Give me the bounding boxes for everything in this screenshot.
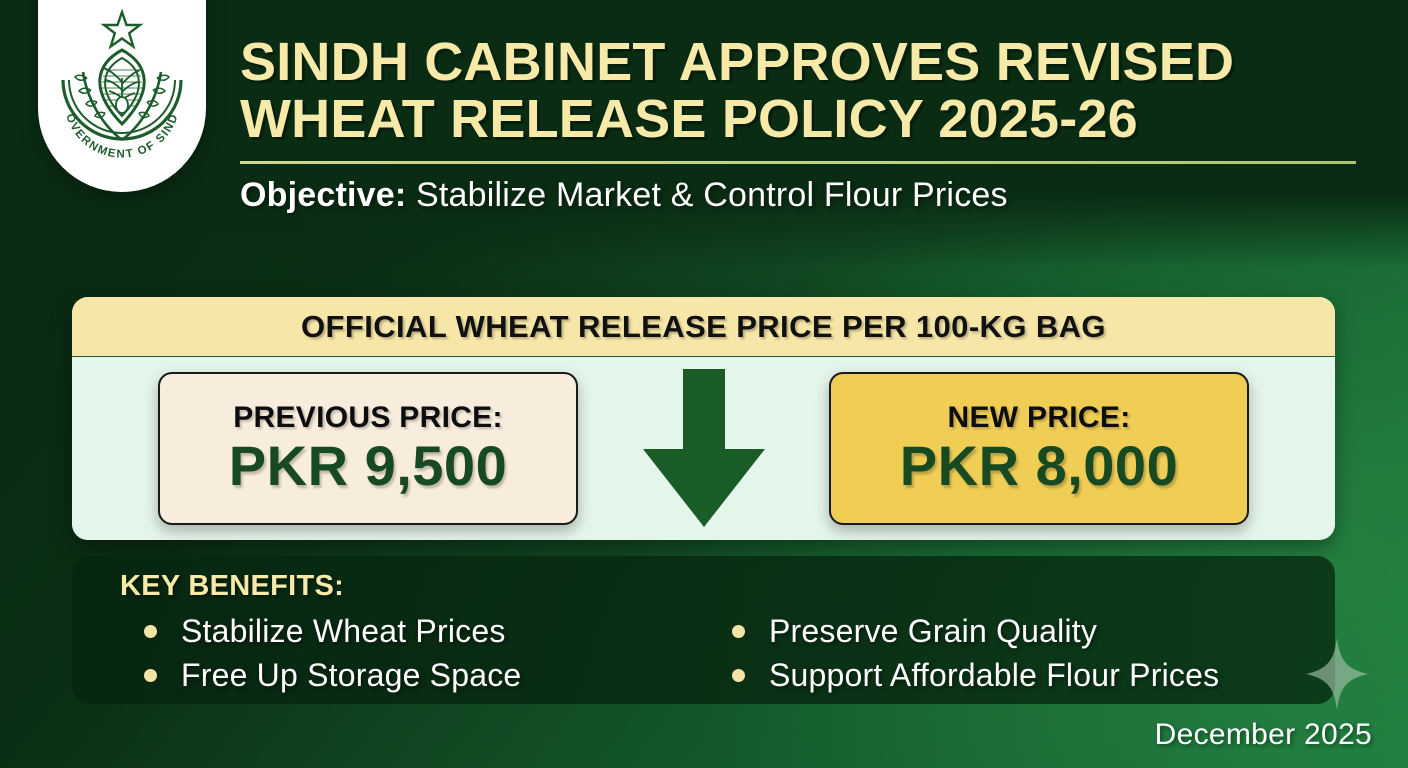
objective-label: Objective: xyxy=(240,176,406,214)
price-card-heading: OFFICIAL WHEAT RELEASE PRICE PER 100-KG … xyxy=(301,309,1106,345)
benefit-label: Free Up Storage Space xyxy=(181,657,521,694)
benefit-label: Preserve Grain Quality xyxy=(769,613,1097,650)
new-price-label: NEW PRICE: xyxy=(948,401,1131,435)
key-benefits-panel: KEY BENEFITS: Stabilize Wheat Prices Fre… xyxy=(72,556,1335,704)
infographic-poster: GOVERNMENT OF SINDH SINDH CABINET APPROV… xyxy=(0,0,1408,768)
government-logo-plate: GOVERNMENT OF SINDH xyxy=(38,0,206,192)
header-divider xyxy=(240,161,1356,164)
benefits-right-column: Preserve Grain Quality Support Affordabl… xyxy=(708,609,1328,697)
header-text-block: SINDH CABINET APPROVES REVISED WHEAT REL… xyxy=(240,34,1356,215)
benefit-item: Free Up Storage Space xyxy=(120,653,708,697)
key-benefits-title: KEY BENEFITS: xyxy=(120,570,1335,603)
benefits-columns: Stabilize Wheat Prices Free Up Storage S… xyxy=(120,609,1335,697)
new-price-box: NEW PRICE: PKR 8,000 xyxy=(829,372,1249,525)
bullet-dot-icon xyxy=(732,625,745,638)
previous-price-label: PREVIOUS PRICE: xyxy=(233,401,503,435)
bullet-dot-icon xyxy=(732,669,745,682)
benefit-label: Stabilize Wheat Prices xyxy=(181,613,506,650)
previous-price-box: PREVIOUS PRICE: PKR 9,500 xyxy=(158,372,578,525)
government-of-sindh-emblem-icon: GOVERNMENT OF SINDH xyxy=(47,6,197,184)
page-title: SINDH CABINET APPROVES REVISED WHEAT REL… xyxy=(240,34,1356,147)
objective-line: Objective: Stabilize Market & Control Fl… xyxy=(240,176,1356,215)
benefit-label: Support Affordable Flour Prices xyxy=(769,657,1219,694)
bullet-dot-icon xyxy=(144,669,157,682)
benefit-item: Stabilize Wheat Prices xyxy=(120,609,708,653)
benefits-left-column: Stabilize Wheat Prices Free Up Storage S… xyxy=(120,609,708,697)
objective-text: Stabilize Market & Control Flour Prices xyxy=(406,176,1007,214)
price-card-body: PREVIOUS PRICE: PKR 9,500 NEW PRICE: PKR… xyxy=(72,357,1335,540)
publication-date: December 2025 xyxy=(1155,718,1372,752)
sparkle-star-icon xyxy=(1306,638,1368,710)
benefit-item: Support Affordable Flour Prices xyxy=(708,653,1328,697)
benefit-item: Preserve Grain Quality xyxy=(708,609,1328,653)
header: GOVERNMENT OF SINDH SINDH CABINET APPROV… xyxy=(0,0,1408,268)
new-price-value: PKR 8,000 xyxy=(900,437,1178,496)
arrow-down-icon xyxy=(637,369,771,529)
price-decrease-arrow xyxy=(637,369,771,529)
price-comparison-card: OFFICIAL WHEAT RELEASE PRICE PER 100-KG … xyxy=(72,297,1335,540)
previous-price-value: PKR 9,500 xyxy=(229,437,507,496)
price-card-heading-band: OFFICIAL WHEAT RELEASE PRICE PER 100-KG … xyxy=(72,297,1335,357)
bullet-dot-icon xyxy=(144,625,157,638)
